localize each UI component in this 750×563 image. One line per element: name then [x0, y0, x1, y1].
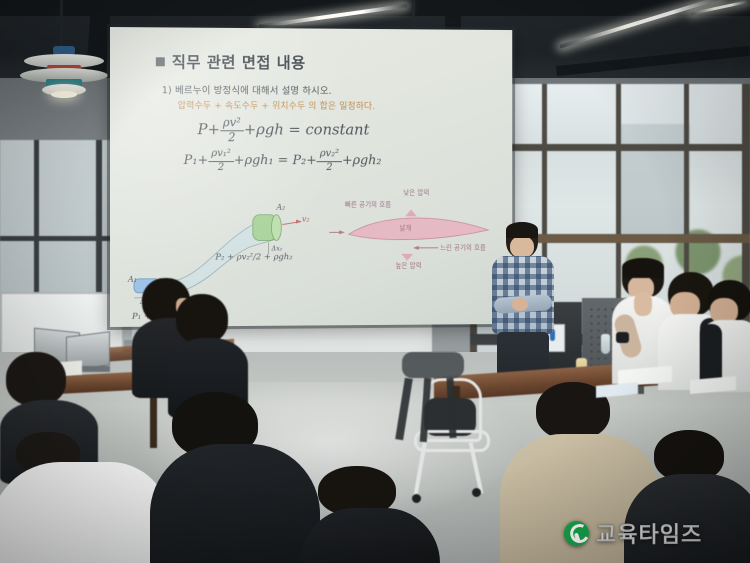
- label-high-pressure: 높은 압력: [396, 260, 422, 270]
- student-ear: [562, 406, 588, 436]
- square-bullet-icon: [156, 57, 165, 66]
- office-chair[interactable]: [398, 352, 478, 462]
- student-hand: [634, 292, 652, 316]
- chair-leg: [395, 378, 413, 440]
- slide-title: 직무 관련 면접 내용: [156, 50, 497, 74]
- student-foreground: [0, 432, 170, 563]
- wing-shape: [349, 218, 488, 240]
- lecture-room-photo: 직무 관련 면접 내용 1) 베르누이 방정식에 대해서 설명 하시오. 압력수…: [0, 0, 750, 563]
- slide-answer-hint: 압력수두 + 속도수두 + 위치수두 의 합은 일정하다.: [178, 98, 497, 112]
- bernoulli-equation-general: P+ρv²2+ρgh = constant: [198, 117, 497, 144]
- eq2-rhs-fraction: ρv₂²2: [317, 150, 342, 173]
- caption-right-equation: P₂ + ρv₂²/2 + ρgh₂: [215, 252, 292, 262]
- eq2-lhs-p: P₁: [184, 154, 198, 169]
- eq1-plus1: +: [208, 120, 220, 138]
- eq2-lhs-fraction: ρv₁²2: [208, 150, 233, 173]
- lamp-cord: [60, 0, 63, 50]
- education-times-logo-icon: [561, 517, 593, 549]
- eq2-rhs-term3: ρgh₂: [353, 154, 382, 169]
- slide-question: 1) 베르누이 방정식에 대해서 설명 하시오.: [162, 82, 497, 97]
- instructor-face: [510, 236, 534, 258]
- label-fast-flow: 빠른 공기의 흐름: [345, 199, 391, 209]
- eq1-fraction: ρv²2: [220, 117, 244, 143]
- chair-leg: [446, 378, 456, 438]
- label-outlet-velocity: v₂: [302, 215, 310, 224]
- eq2-equals: =: [278, 154, 289, 169]
- slide-title-text: 직무 관련 면접 내용: [172, 50, 306, 73]
- eq2-rhs-p: P₂: [292, 154, 306, 169]
- student-foreground: [300, 466, 440, 563]
- eq2-lhs-denominator: 2: [208, 163, 233, 173]
- eq2-lhs-term3: ρgh₁: [245, 154, 274, 169]
- airfoil-figure: 낮은 압력 빠른 공기의 흐름 날개 느린 공기의 흐름 높은 압력: [329, 185, 508, 276]
- label-outlet-area: A₂: [276, 203, 285, 212]
- student-foreground: [150, 392, 320, 563]
- eq1-term3: ρgh: [256, 121, 284, 139]
- wristwatch: [616, 332, 629, 343]
- student-head: [6, 352, 66, 406]
- eq2-lhs-numerator: ρv₁²: [208, 150, 233, 160]
- outlet-face: [272, 215, 282, 241]
- chair-leg: [420, 378, 431, 442]
- label-low-pressure: 낮은 압력: [403, 187, 429, 197]
- student-white-shirt: [0, 462, 170, 563]
- student-dark-top: [150, 444, 320, 563]
- bernoulli-equation-two-points: P₁+ρv₁²2+ρgh₁ = P₂+ρv₂²2+ρgh₂: [184, 150, 497, 173]
- chair-caster: [472, 488, 481, 497]
- eq1-denominator: 2: [220, 132, 244, 144]
- eq1-plus2: +: [244, 121, 256, 139]
- label-wing: 날개: [399, 222, 411, 232]
- instructor-standing: [488, 222, 558, 392]
- eq1-equals: =: [288, 121, 300, 139]
- eq1-rhs: constant: [306, 121, 370, 139]
- water-bottle: [601, 334, 610, 354]
- eq1-p: P: [198, 120, 208, 138]
- student-seated: [700, 280, 750, 392]
- pendant-lamp: [20, 46, 108, 98]
- watermark: 교육타임즈: [564, 517, 702, 549]
- watermark-text: 교육타임즈: [596, 517, 702, 549]
- student-dark-top: [300, 508, 440, 563]
- eq2-rhs-numerator: ρv₂²: [317, 150, 342, 160]
- eq1-numerator: ρv²: [220, 117, 244, 129]
- instructor-hair: [506, 222, 538, 238]
- arrowhead: [413, 246, 419, 250]
- eq2-rhs-denominator: 2: [317, 163, 342, 173]
- label-outlet-dx: Δx₂: [272, 244, 283, 252]
- chair-backrest: [402, 352, 464, 378]
- student-head: [176, 294, 228, 344]
- arrowhead: [339, 230, 345, 234]
- low-pressure-arrow: [405, 209, 417, 216]
- label-slow-flow: 느린 공기의 흐름: [440, 242, 486, 252]
- lamp-bulb: [51, 91, 77, 98]
- instructor-hand: [512, 298, 528, 311]
